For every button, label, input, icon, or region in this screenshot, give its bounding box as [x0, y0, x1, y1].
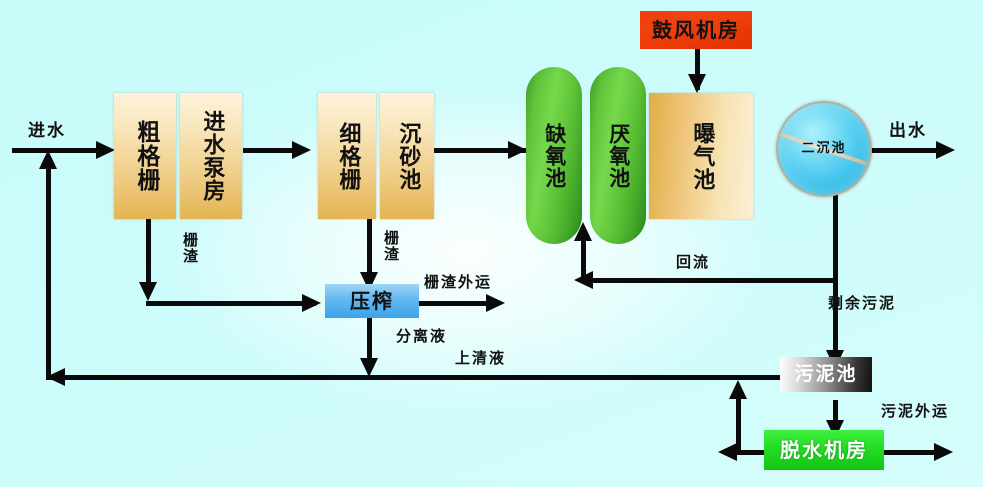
node-dewatering-room-label: 脱水机房 [780, 439, 868, 461]
label-influent: 进水 [28, 116, 66, 141]
node-anaerobic-tank[interactable]: 厌氧池 [590, 67, 646, 244]
node-grit-chamber-label: 沉砂池 [395, 122, 420, 191]
sludge-transport-arrow [934, 443, 953, 461]
node-blower-room-label: 鼓风机房 [652, 19, 740, 41]
label-screenings-transport: 栅渣外运 [424, 271, 492, 292]
node-anoxic-tank-label: 缺氧池 [542, 123, 566, 189]
node-anaerobic-tank-label: 厌氧池 [606, 123, 630, 189]
node-grit-chamber[interactable]: 沉砂池 [380, 93, 434, 219]
label-sludge-transport: 污泥外运 [881, 400, 949, 421]
node-inlet-pump-house-label: 进水泵房 [199, 110, 224, 202]
node-blower-room[interactable]: 鼓风机房 [640, 11, 752, 49]
node-secondary-clarifier[interactable]: 二沉池 [776, 101, 872, 197]
screenings-transport-arrow [486, 294, 505, 312]
node-inlet-pump-house[interactable]: 进水泵房 [180, 93, 242, 219]
label-screenings-coarse: 栅渣 [180, 232, 201, 264]
influent-arrow [96, 141, 115, 159]
coarse-screenings-to-press-line [146, 301, 316, 306]
left-return-arrow [39, 150, 57, 169]
node-press-label: 压榨 [350, 290, 394, 312]
node-coarse-screen[interactable]: 粗格栅 [114, 93, 176, 219]
return-sludge-line [592, 278, 838, 283]
dewatering-riser-arrow [729, 380, 747, 399]
label-screenings-fine: 栅渣 [381, 230, 402, 262]
coarse-screenings-drop-arrow [139, 282, 157, 301]
label-effluent: 出水 [889, 116, 927, 141]
node-anoxic-tank[interactable]: 缺氧池 [526, 67, 582, 244]
separated-liquid-line [367, 316, 372, 364]
process-flow-diagram: 栅渣 栅渣 栅渣外运 分离液 上清液 回流 剩余污泥 污泥外运 进水 出水 粗格… [0, 0, 983, 487]
label-separated-liquid: 分离液 [396, 325, 447, 346]
node-aeration-tank[interactable]: 曝气池 [649, 93, 753, 219]
node-sludge-pool[interactable]: 污泥池 [780, 357, 872, 392]
grit-to-anoxic-arrow [508, 141, 527, 159]
node-press[interactable]: 压榨 [325, 284, 419, 318]
supernatant-return-line [46, 375, 836, 380]
effluent-arrow [936, 141, 955, 159]
screenings-transport-line [418, 301, 494, 306]
supernatant-return-arrow [46, 368, 65, 386]
coarse-screenings-to-press-arrow [302, 294, 321, 312]
return-sludge-arrow [574, 271, 593, 289]
left-return-riser [46, 168, 51, 380]
node-sludge-pool-label: 污泥池 [794, 364, 857, 385]
label-return-sludge: 回流 [676, 251, 710, 272]
node-dewatering-room[interactable]: 脱水机房 [764, 430, 884, 470]
pumphouse-to-finescreen-arrow [292, 141, 311, 159]
label-supernatant: 上清液 [455, 347, 506, 368]
node-fine-screen-label: 细格栅 [335, 122, 360, 191]
node-coarse-screen-label: 粗格栅 [132, 120, 158, 192]
node-aeration-tank-label: 曝气池 [689, 122, 714, 191]
node-fine-screen[interactable]: 细格栅 [318, 93, 376, 219]
separated-liquid-arrow [360, 358, 378, 377]
blower-to-aeration-arrow [688, 74, 706, 93]
dewatering-left-arrow [718, 443, 737, 461]
node-secondary-clarifier-label: 二沉池 [801, 142, 846, 157]
label-excess-sludge: 剩余污泥 [828, 292, 896, 313]
